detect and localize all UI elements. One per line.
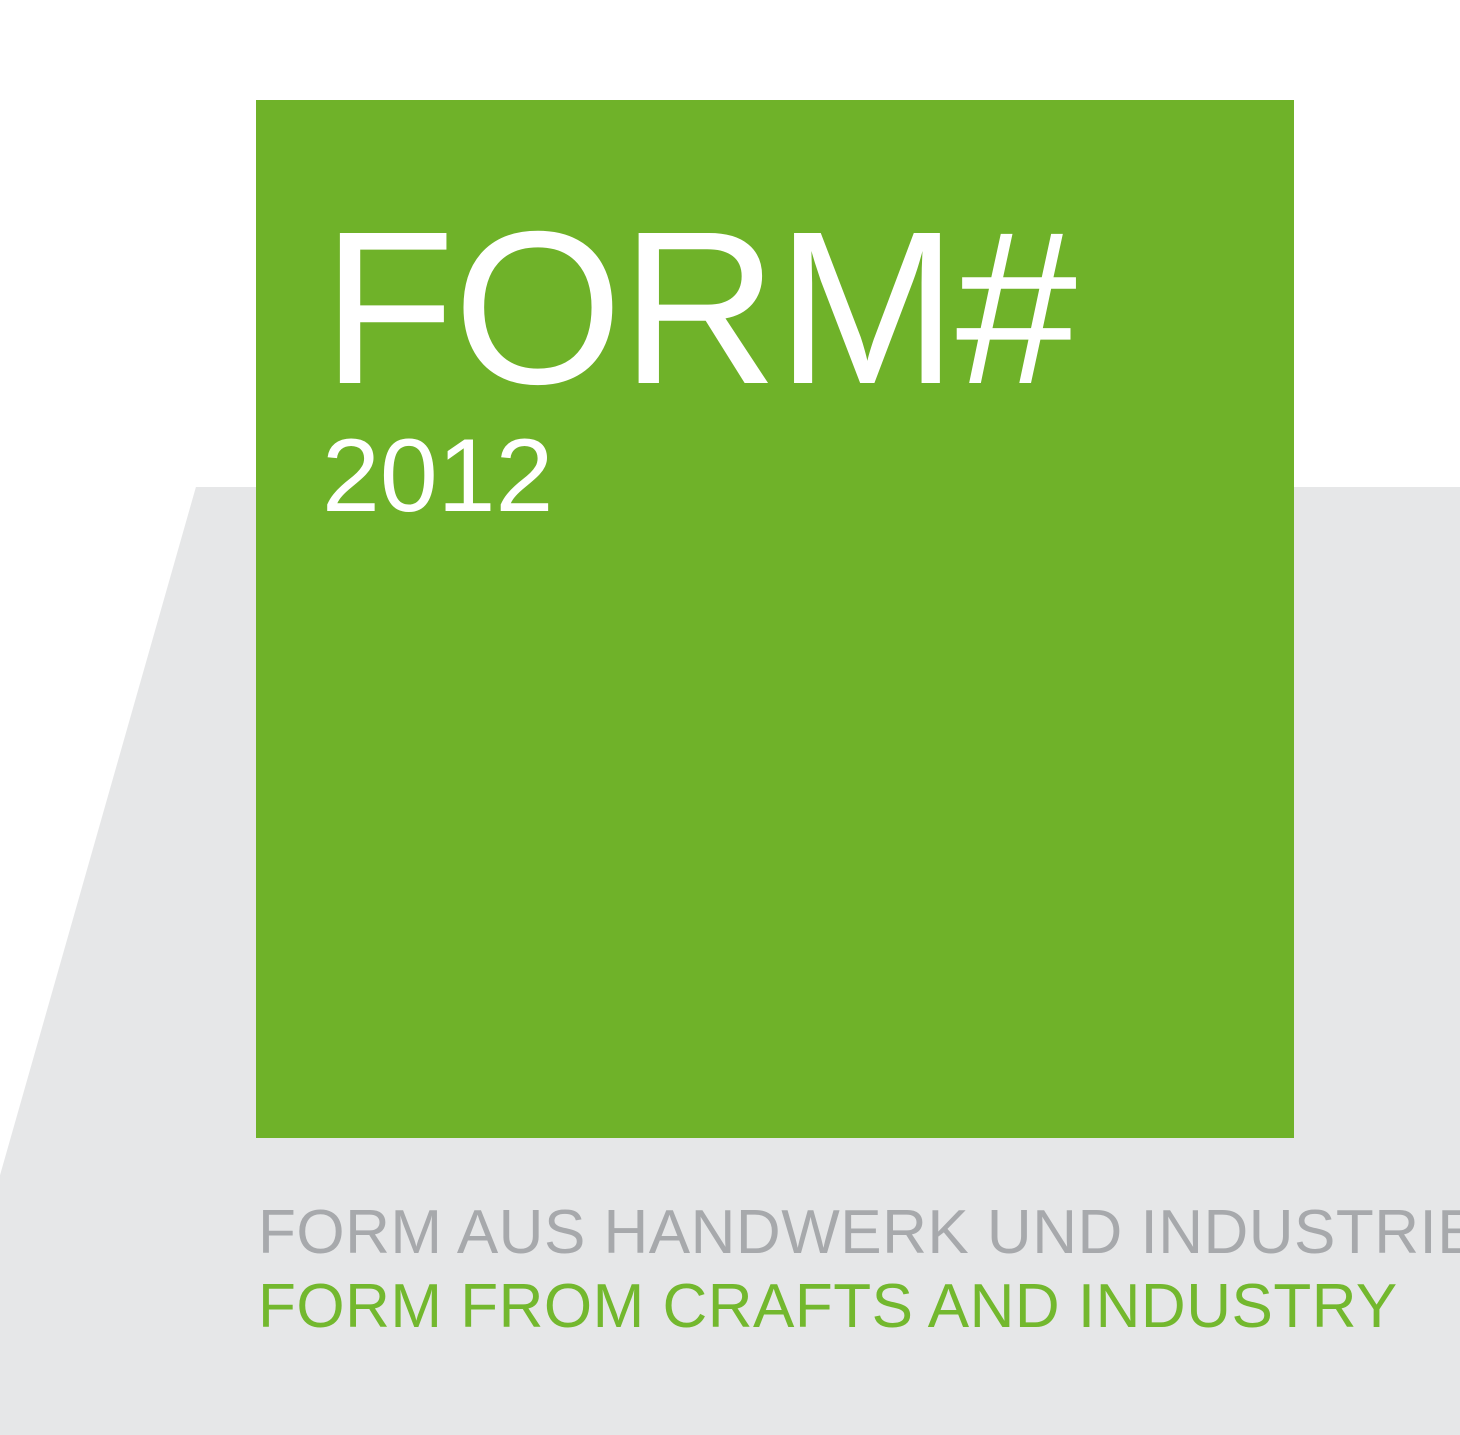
tagline-english: FORM FROM CRAFTS AND INDUSTRY (258, 1276, 1458, 1338)
tagline-german: FORM AUS HANDWERK UND INDUSTRIE (258, 1202, 1458, 1264)
wordmark: FORM# 2012 (322, 205, 1022, 528)
logo-title: FORM# (322, 205, 1022, 412)
poster-canvas: FORM# 2012 FORM AUS HANDWERK UND INDUSTR… (0, 0, 1460, 1435)
logo-year: 2012 (322, 424, 1022, 528)
tagline-block: FORM AUS HANDWERK UND INDUSTRIE FORM FRO… (258, 1202, 1458, 1338)
